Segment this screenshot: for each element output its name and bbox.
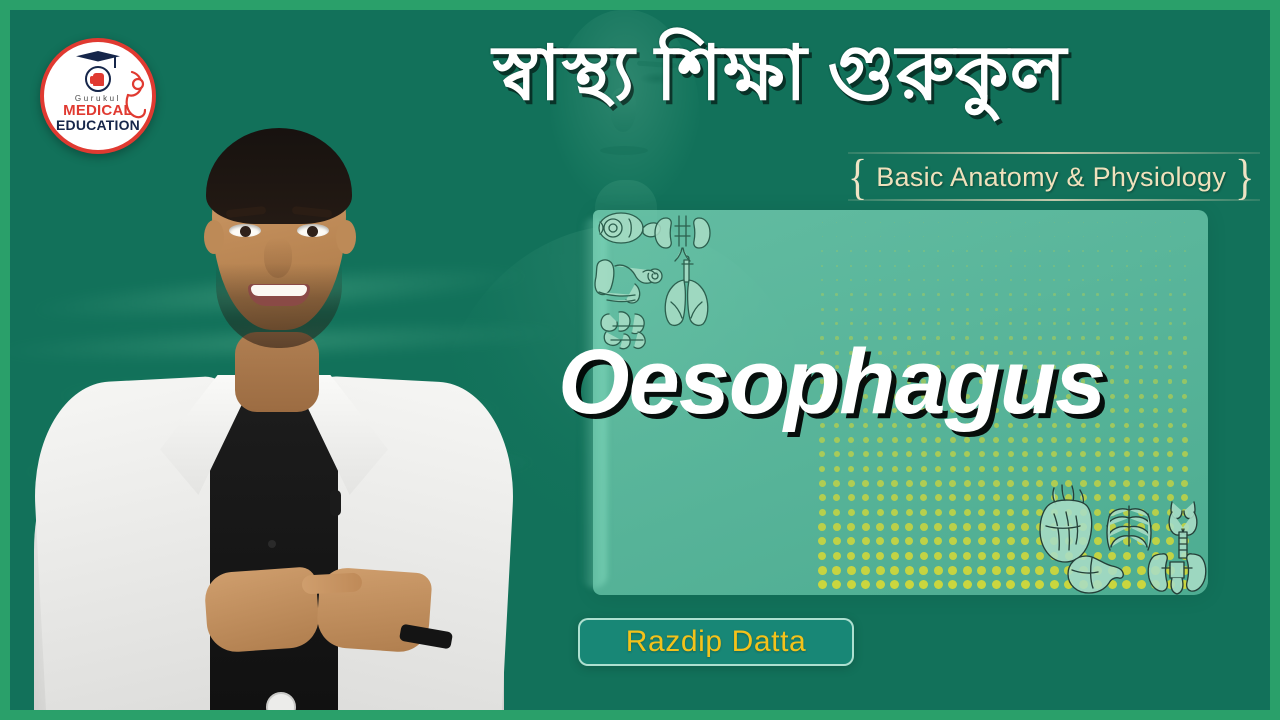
presenter-name: Razdip Datta xyxy=(626,625,807,659)
pupil-left xyxy=(240,226,251,237)
course-subtitle: Basic Anatomy & Physiology xyxy=(876,162,1226,193)
video-thumbnail: স্বাস্থ্য শিক্ষা গুরুকুল { Basic Anatomy… xyxy=(0,0,1280,720)
lapel-microphone-icon xyxy=(330,490,341,516)
subtitle-plate: { Basic Anatomy & Physiology } xyxy=(842,156,1260,198)
channel-logo-badge[interactable]: Gurukul MEDICAL EDUCATION xyxy=(40,38,156,154)
logo-education-word: EDUCATION xyxy=(56,118,140,132)
nose xyxy=(264,238,292,278)
shirt-button xyxy=(268,540,276,548)
ear-left xyxy=(204,220,224,254)
right-brace-icon: } xyxy=(1235,152,1254,202)
thumbnail-interior: স্বাস্থ্য শিক্ষা গুরুকুল { Basic Anatomy… xyxy=(10,10,1270,710)
mouth xyxy=(248,284,310,306)
raised-hand-emblem-icon xyxy=(85,66,111,92)
subtitle-rule-top xyxy=(848,152,1260,154)
pupil-right xyxy=(307,226,318,237)
topic-title: Oesophagus xyxy=(558,336,1258,428)
pointing-finger xyxy=(302,572,363,594)
left-brace-icon: { xyxy=(848,152,867,202)
bengali-channel-title: স্বাস্থ্য শিক্ষা গুরুকুল xyxy=(430,32,1130,117)
graduation-cap-icon xyxy=(76,51,120,65)
ear-right xyxy=(336,220,356,254)
subtitle-rule-bottom xyxy=(848,199,1260,201)
logo-medical-word: MEDICAL xyxy=(63,103,133,118)
presenter-photo xyxy=(30,80,530,710)
presenter-name-chip: Razdip Datta xyxy=(578,618,854,666)
